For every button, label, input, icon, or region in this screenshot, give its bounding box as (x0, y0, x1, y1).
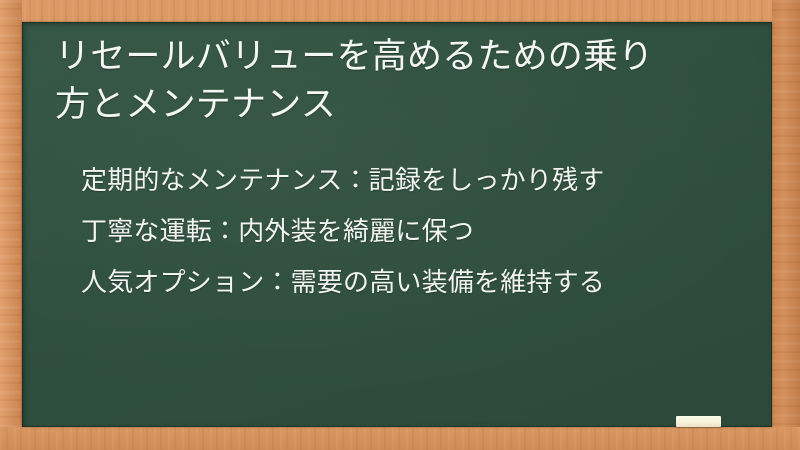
list-item: 定期的なメンテナンス：記録をしっかり残す (81, 155, 742, 206)
chalkboard-surface: リセールバリューを高めるための乗り 方とメンテナンス 定期的なメンテナンス：記録… (22, 22, 772, 427)
bullet-list: 定期的なメンテナンス：記録をしっかり残す 丁寧な運転：内外装を綺麗に保つ 人気オ… (81, 155, 742, 308)
frame-right-stile (772, 0, 800, 450)
frame-bottom-rail (0, 427, 800, 450)
chalk-stick-icon (676, 416, 721, 427)
list-item: 丁寧な運転：内外装を綺麗に保つ (81, 206, 742, 257)
chalkboard-content: リセールバリューを高めるための乗り 方とメンテナンス 定期的なメンテナンス：記録… (22, 22, 772, 427)
list-item: 人気オプション：需要の高い装備を維持する (81, 257, 742, 308)
chalkboard-slide: リセールバリューを高めるための乗り 方とメンテナンス 定期的なメンテナンス：記録… (0, 0, 800, 450)
page-title: リセールバリューを高めるための乗り 方とメンテナンス (55, 33, 742, 129)
frame-left-stile (0, 0, 22, 450)
